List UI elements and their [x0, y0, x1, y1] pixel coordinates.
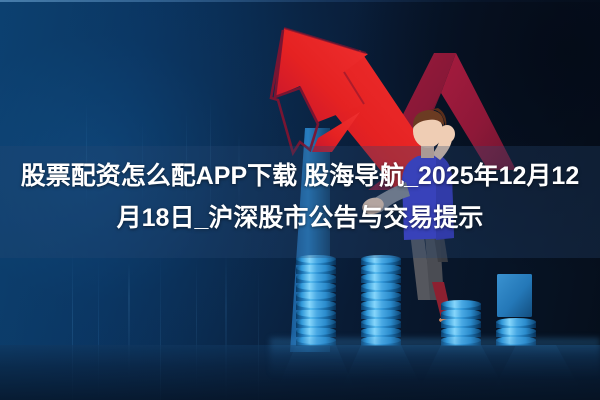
headline-line-2: 月18日_沪深股市公告与交易提示: [8, 197, 592, 239]
page-title: 股票配资怎么配APP下载 股海导航_2025年12月12 月18日_沪深股市公告…: [0, 155, 600, 239]
headline-line-1: 股票配资怎么配APP下载 股海导航_2025年12月12: [8, 155, 592, 197]
floor-glow: [270, 338, 600, 378]
coin-stack-1: [296, 255, 336, 346]
blue-card: [497, 274, 532, 317]
stock-finance-banner: 股票配资怎么配APP下载 股海导航_2025年12月12 月18日_沪深股市公告…: [0, 0, 600, 400]
coin-stack-2: [361, 255, 401, 346]
